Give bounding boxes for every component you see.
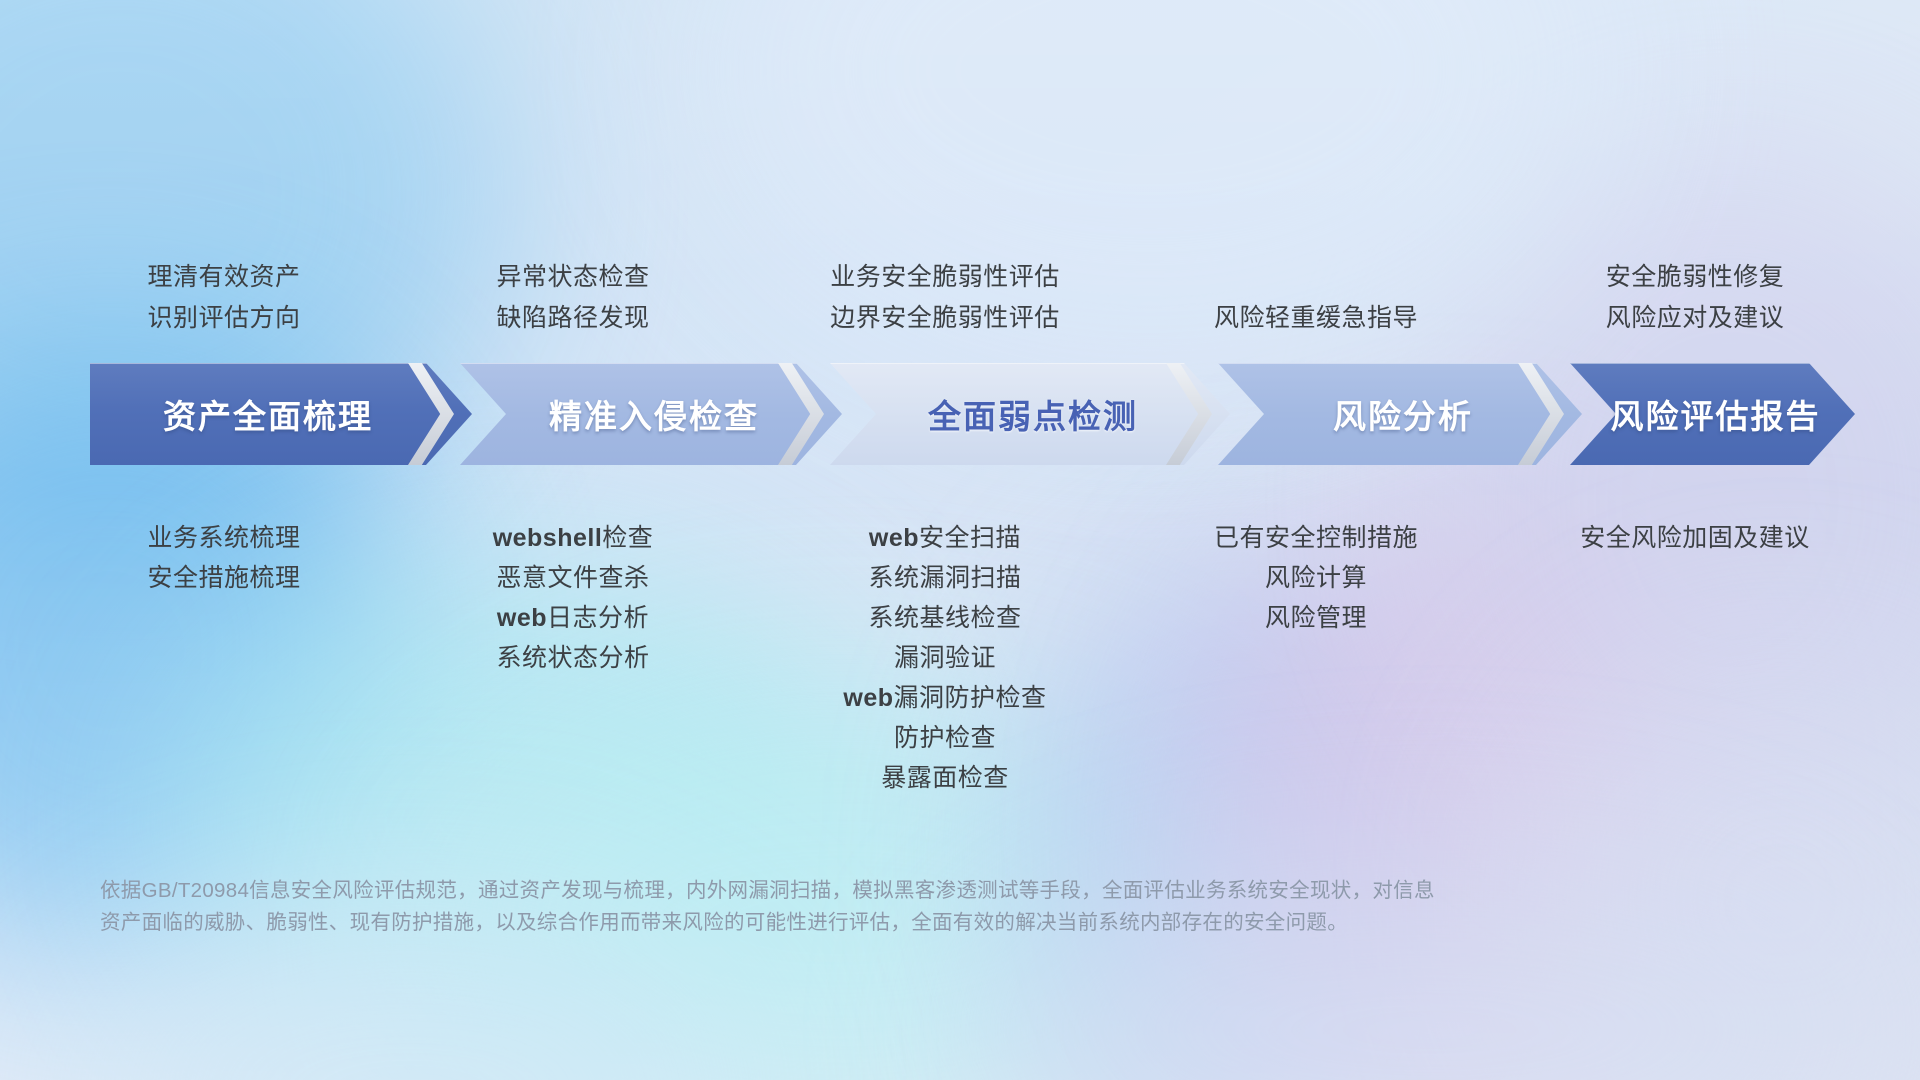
process-flow-banner: 资产全面梳理精准入侵检查全面弱点检测风险分析风险评估报告 xyxy=(90,363,1855,465)
stage-bottom-item-text: 风险计算 xyxy=(1265,564,1367,592)
footer-line-1: 依据GB/T20984信息安全风险评估规范，通过资产发现与梳理，内外网漏洞扫描，… xyxy=(100,875,1660,907)
stage-bottom-item: 漏洞验证 xyxy=(645,638,1245,679)
stage-title-risk-analysis: 风险分析 xyxy=(1333,390,1473,438)
stage-chevron-risk-report[interactable]: 风险评估报告 xyxy=(1570,363,1855,465)
stage-bottom-item-text: 安全风险加固及建议 xyxy=(1580,524,1810,552)
stage-bottom-item-text: 已有安全控制措施 xyxy=(1214,524,1418,552)
stage-bottom-item: 风险管理 xyxy=(1016,598,1616,639)
stage-bottom-item-text: 安全扫描 xyxy=(919,524,1021,552)
stage-bottom-item-text: 漏洞防护检查 xyxy=(894,684,1047,712)
stage-title-risk-report: 风险评估报告 xyxy=(1611,390,1821,438)
footer-line-2: 资产面临的威胁、脆弱性、现有防护措施，以及综合作用而带来风险的可能性进行评估，全… xyxy=(100,907,1660,939)
stage-top-item: 安全脆弱性修复 xyxy=(1395,257,1920,298)
stage-bottom-item-text: 系统基线检查 xyxy=(868,604,1021,632)
stage-bottom-item: 风险计算 xyxy=(1016,558,1616,599)
stage-bottom-item-text: 系统状态分析 xyxy=(496,644,649,672)
stage-bottom-item-text: 恶意文件查杀 xyxy=(496,564,649,592)
stage-title-intrusion-check: 精准入侵检查 xyxy=(549,390,759,438)
stage-title-weakness-detection: 全面弱点检测 xyxy=(928,390,1138,438)
stage-top-item: 业务安全脆弱性评估 xyxy=(645,257,1245,298)
stage-bottom-item-latin: web xyxy=(843,684,893,712)
stage-bottom-item: 安全风险加固及建议 xyxy=(1395,518,1920,559)
stage-title-asset-inventory: 资产全面梳理 xyxy=(163,390,373,438)
footer-description: 依据GB/T20984信息安全风险评估规范，通过资产发现与梳理，内外网漏洞扫描，… xyxy=(100,875,1660,939)
stage-chevron-weakness-detection[interactable]: 全面弱点检测 xyxy=(830,363,1230,465)
stage-top-item: 风险应对及建议 xyxy=(1395,298,1920,339)
stage-bottom-item-text: 日志分析 xyxy=(547,604,649,632)
stage-bottom-item-text: 系统漏洞扫描 xyxy=(868,564,1021,592)
stage-bottom-item-text: 风险管理 xyxy=(1265,604,1367,632)
stage-chevron-risk-analysis[interactable]: 风险分析 xyxy=(1218,363,1582,465)
stage-bottom-item-text: 防护检查 xyxy=(894,724,996,752)
stage-bottom-item-latin: webshell xyxy=(493,524,603,552)
stage-bottom-item: 暴露面检查 xyxy=(645,758,1245,799)
stage-bottom-item: web漏洞防护检查 xyxy=(645,678,1245,719)
stage-bottom-item-latin: web xyxy=(497,604,547,632)
stage-bottom-item-latin: web xyxy=(869,524,919,552)
stage-bottom-item-text: 暴露面检查 xyxy=(881,764,1009,792)
stage-bottom-item: 防护检查 xyxy=(645,718,1245,759)
stage-chevron-asset-inventory[interactable]: 资产全面梳理 xyxy=(90,363,472,465)
stage-chevron-intrusion-check[interactable]: 精准入侵检查 xyxy=(460,363,842,465)
stage-bottom-item-text: 漏洞验证 xyxy=(894,644,996,672)
